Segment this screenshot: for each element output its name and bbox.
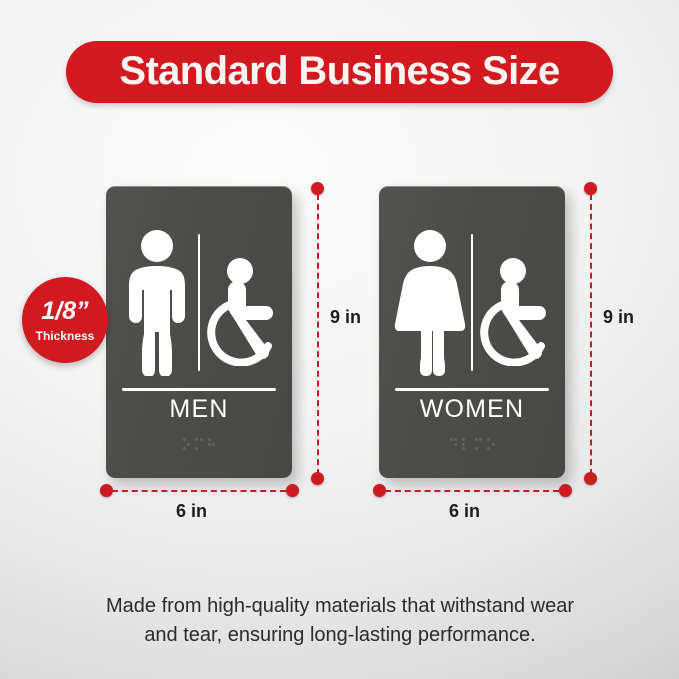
sign-men-face: MEN — [106, 186, 292, 478]
dim-women-height-label: 9 in — [603, 307, 634, 328]
dim-men-height-line — [317, 194, 319, 475]
dim-men-height-label: 9 in — [330, 307, 361, 328]
dim-women-height-dot-bottom — [584, 472, 597, 485]
dim-men-width-label: 6 in — [176, 501, 207, 522]
dim-men-width-dot-right — [286, 484, 299, 497]
sign-men-rule — [122, 388, 276, 391]
man-icon — [118, 228, 196, 376]
sign-women-pictograms — [379, 228, 565, 376]
footer-caption-line2: and tear, ensuring long-lasting performa… — [60, 621, 620, 650]
sign-divider-line — [198, 234, 200, 371]
wheelchair-icon — [206, 254, 286, 366]
sign-men-label: MEN — [106, 395, 292, 424]
sign-men-pictograms — [106, 228, 292, 376]
dim-men-width-line — [112, 490, 286, 492]
sign-men-braille — [106, 438, 292, 450]
thickness-value: 1/8” — [41, 299, 88, 324]
dim-men-height-dot-bottom — [311, 472, 324, 485]
sign-men: MEN — [106, 186, 292, 478]
page-title: Standard Business Size — [119, 51, 559, 94]
sign-women-label: WOMEN — [379, 395, 565, 424]
sign-divider-line — [471, 234, 473, 371]
woman-icon — [391, 228, 469, 376]
thickness-caption: Thickness — [36, 330, 95, 342]
thickness-badge: 1/8” Thickness — [22, 277, 108, 363]
sign-women-face: WOMEN — [379, 186, 565, 478]
dim-women-height-line — [590, 194, 592, 475]
title-banner: Standard Business Size — [66, 41, 613, 103]
dim-women-width-line — [385, 490, 559, 492]
infographic-page: Standard Business Size — [0, 0, 679, 679]
dim-women-width-label: 6 in — [449, 501, 480, 522]
wheelchair-icon — [479, 254, 559, 366]
dim-women-width-dot-right — [559, 484, 572, 497]
footer-caption-line1: Made from high-quality materials that wi… — [60, 592, 620, 621]
sign-women: WOMEN — [379, 186, 565, 478]
footer-caption: Made from high-quality materials that wi… — [60, 592, 620, 650]
sign-women-rule — [395, 388, 549, 391]
sign-women-braille — [379, 438, 565, 450]
